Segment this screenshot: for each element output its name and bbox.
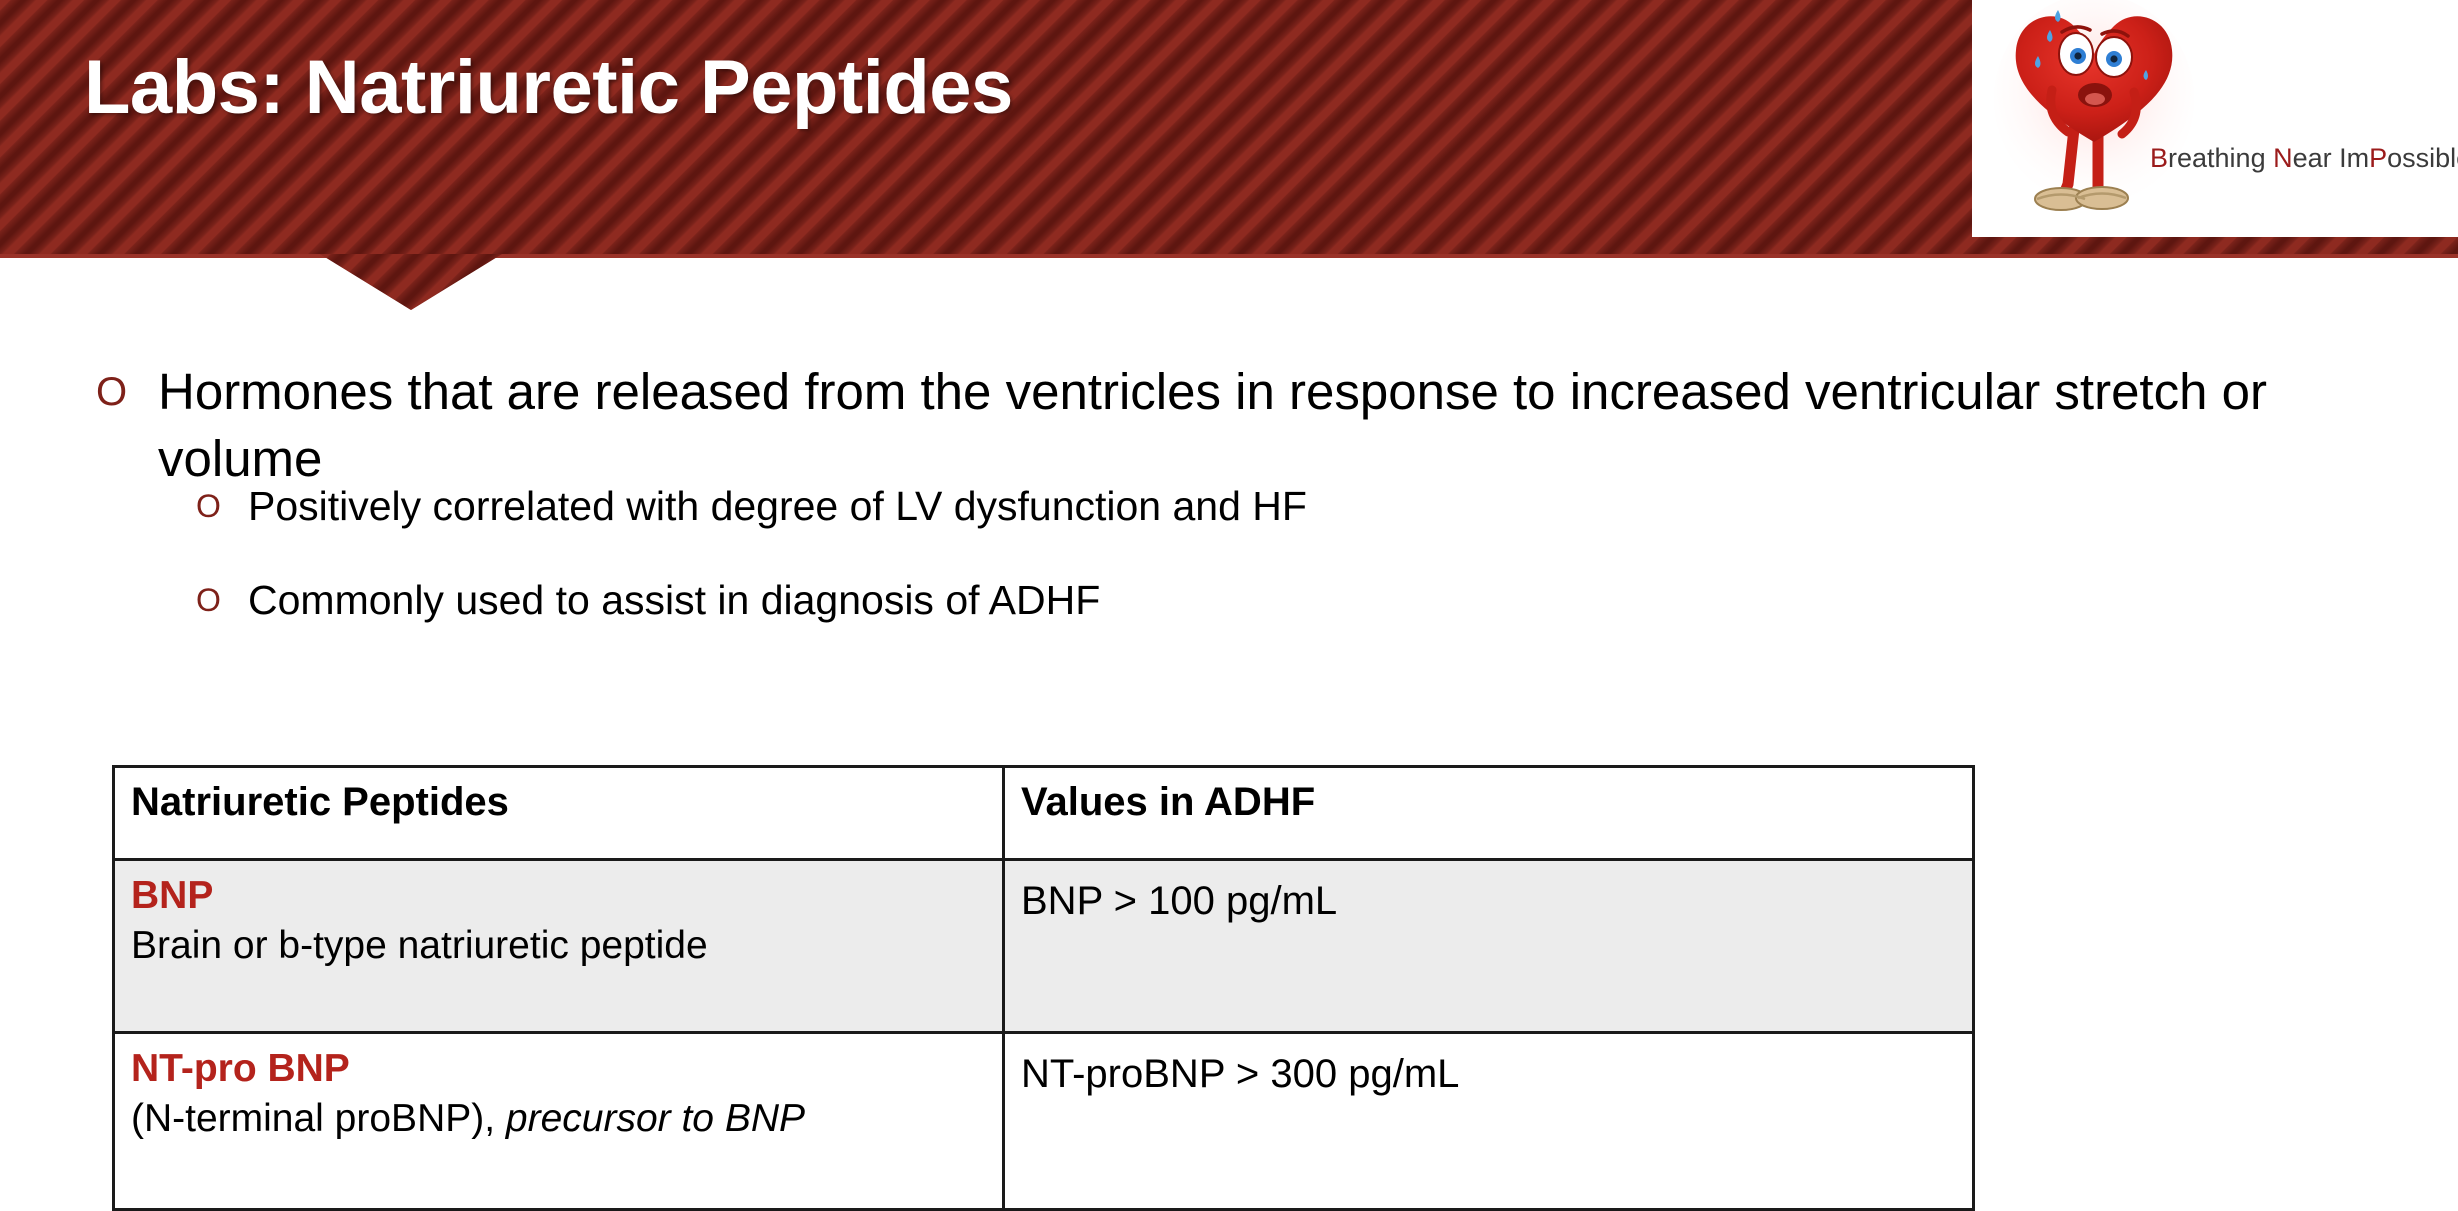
page-title: Labs: Natriuretic Peptides [84,50,1013,126]
table-header-values: Values in ADHF [1004,767,1974,860]
bullet-circle-icon: O [196,574,248,616]
bullet-circle-icon: O [196,480,248,522]
peptide-description-ntprobnp: (N-terminal proBNP), precursor to BNP [131,1096,986,1143]
banner-chevron-notch [320,254,502,310]
logo-tagline-p: P [2369,143,2387,173]
peptide-description-ntprobnp-plain: (N-terminal proBNP), [131,1097,506,1140]
bullet-main: O Hormones that are released from the ve… [96,358,2396,493]
bullet-sub-2-text: Commonly used to assist in diagnosis of … [248,574,2396,627]
table-cell-bnp-name: BNP Brain or b-type natriuretic peptide [114,860,1004,1033]
value-ntprobnp: NT-proBNP > 300 pg/mL [1021,1046,1956,1098]
logo-tagline-reathing: reathing [2168,143,2273,173]
peptide-description-ntprobnp-italic: precursor to BNP [506,1097,805,1140]
logo-tagline-ear-im: ear Im [2293,143,2370,173]
bullet-circle-icon: O [96,358,158,412]
table-cell-bnp-value: BNP > 100 pg/mL [1004,860,1974,1033]
logo-container: Breathing Near ImPossible [1972,0,2458,237]
table-header-row: Natriuretic Peptides Values in ADHF [114,767,1974,860]
peptide-description-bnp-plain: Brain or b-type natriuretic peptide [131,924,708,967]
heart-character-icon [1994,0,2204,219]
peptide-name-bnp: BNP [131,873,986,919]
peptide-name-ntprobnp: NT-pro BNP [131,1046,986,1092]
table-row: BNP Brain or b-type natriuretic peptide … [114,860,1974,1033]
value-bnp: BNP > 100 pg/mL [1021,873,1956,925]
peptide-description-bnp: Brain or b-type natriuretic peptide [131,923,986,970]
logo-tagline: Breathing Near ImPossible [2150,143,2458,174]
logo-tagline-ossible: ossible [2387,143,2458,173]
bullet-main-text: Hormones that are released from the vent… [158,358,2328,493]
table-header-peptides: Natriuretic Peptides [114,767,1004,860]
table-row: NT-pro BNP (N-terminal proBNP), precurso… [114,1033,1974,1210]
logo-tagline-n: N [2273,143,2293,173]
bullet-sub-1: O Positively correlated with degree of L… [196,480,2396,533]
natriuretic-peptides-table: Natriuretic Peptides Values in ADHF BNP … [112,765,1975,1211]
bullet-sub-2: O Commonly used to assist in diagnosis o… [196,574,2396,627]
table-cell-ntprobnp-name: NT-pro BNP (N-terminal proBNP), precurso… [114,1033,1004,1210]
bullet-sub-1-text: Positively correlated with degree of LV … [248,480,2396,533]
table-cell-ntprobnp-value: NT-proBNP > 300 pg/mL [1004,1033,1974,1210]
logo-tagline-b: B [2150,143,2168,173]
